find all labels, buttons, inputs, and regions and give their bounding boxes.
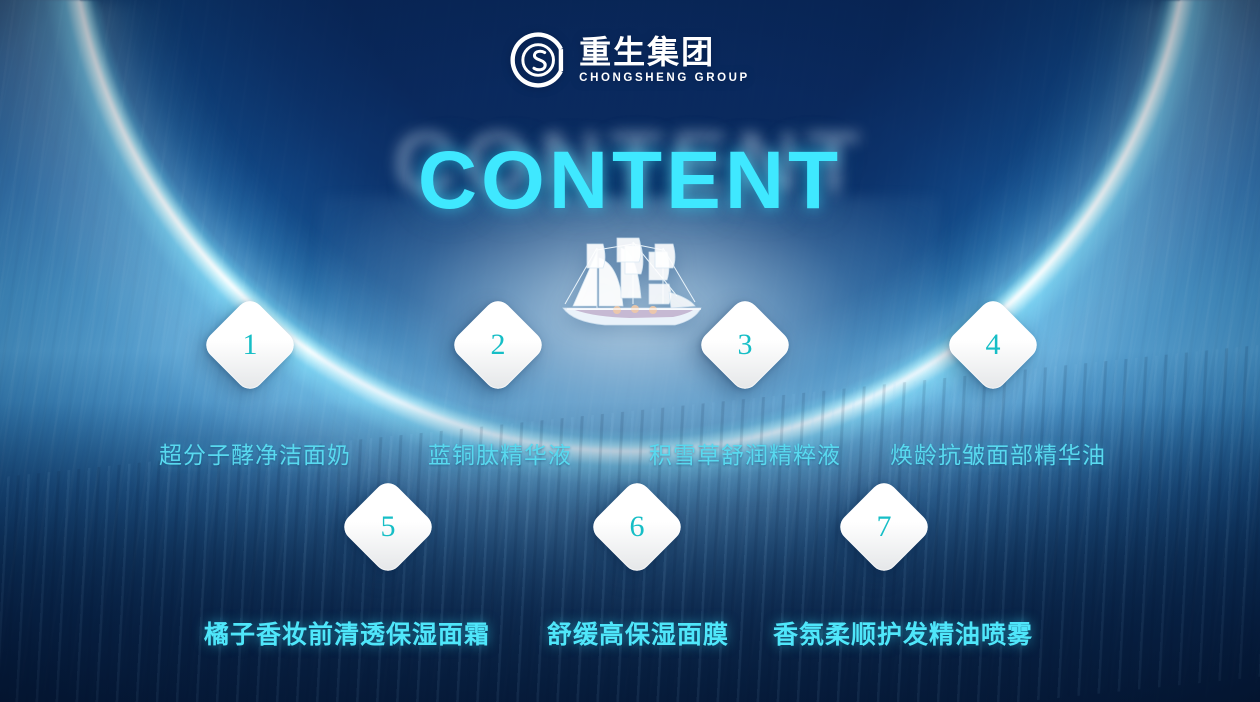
item-label-3[interactable]: 积雪草舒润精粹液 [649, 436, 841, 470]
background-vignette [0, 0, 1260, 702]
item-badge-2[interactable]: 2 [449, 296, 548, 395]
brand-logo: 重生集团 CHONGSHENG GROUP [510, 32, 750, 88]
item-label-7[interactable]: 香氛柔顺护发精油喷雾 [773, 615, 1033, 651]
item-badge-number: 2 [463, 310, 533, 380]
item-badge-1[interactable]: 1 [201, 296, 300, 395]
item-badge-5[interactable]: 5 [339, 478, 438, 577]
item-badge-7[interactable]: 7 [835, 478, 934, 577]
item-badge-number: 7 [849, 492, 919, 562]
slide-title-block: CONTENT CONTENT [0, 112, 1260, 228]
item-badge-4[interactable]: 4 [944, 296, 1043, 395]
item-badge-number: 4 [958, 310, 1028, 380]
item-badge-3[interactable]: 3 [696, 296, 795, 395]
item-badge-number: 1 [215, 310, 285, 380]
chongsheng-monogram-icon [510, 32, 566, 88]
item-badge-number: 6 [602, 492, 672, 562]
item-label-2[interactable]: 蓝铜肽精华液 [428, 436, 572, 470]
item-badge-number: 5 [353, 492, 423, 562]
item-label-5[interactable]: 橘子香妆前清透保湿面霜 [204, 615, 490, 651]
sailing-ship-icon [545, 218, 715, 338]
brand-logo-text: 重生集团 CHONGSHENG GROUP [579, 36, 750, 85]
item-label-1[interactable]: 超分子酵净洁面奶 [159, 436, 351, 470]
brand-name-cn: 重生集团 [579, 36, 750, 68]
page-title: CONTENT [0, 134, 1260, 228]
item-label-4[interactable]: 焕龄抗皱面部精华油 [890, 436, 1106, 470]
item-badge-number: 3 [710, 310, 780, 380]
brand-name-en: CHONGSHENG GROUP [579, 73, 750, 85]
item-label-6[interactable]: 舒缓高保湿面膜 [547, 615, 729, 651]
content-slide: 重生集团 CHONGSHENG GROUP CONTENT CONTENT [0, 0, 1260, 702]
item-badge-6[interactable]: 6 [588, 478, 687, 577]
